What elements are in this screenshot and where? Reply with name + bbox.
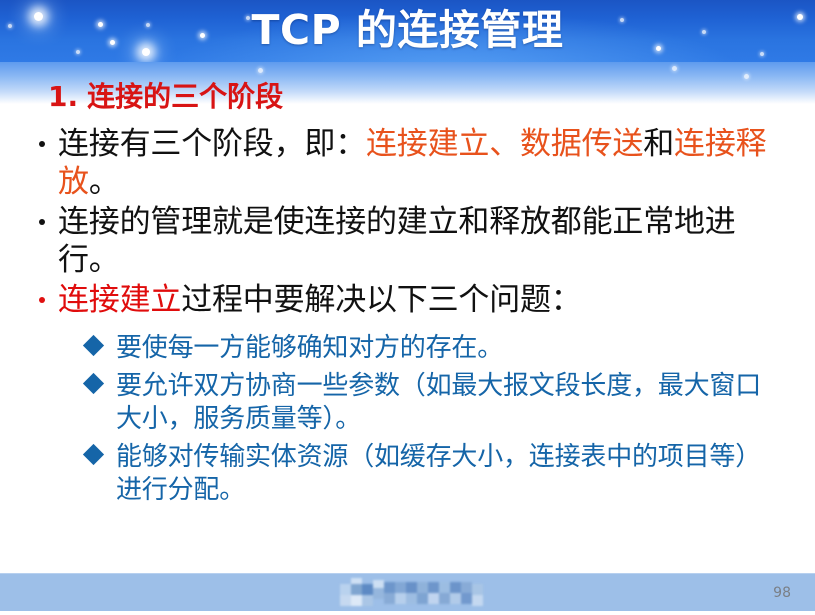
page-number: 98	[773, 584, 791, 602]
section-heading: 1.连接的三个阶段	[48, 80, 283, 114]
bullet-run: 连接的管理就是使连接的建立和释放都能正常地进行。	[58, 204, 736, 278]
sub-bullet-item: 要使每一方能够确知对方的存在。	[86, 332, 786, 365]
bullet-run: 连接有三个阶段，即：	[58, 126, 366, 162]
bullet-dot-icon	[39, 297, 45, 303]
bullet-run: 过程中要解决以下三个问题：	[181, 282, 581, 318]
slide-body: 1.连接的三个阶段 连接有三个阶段，即：连接建立、数据传送和连接释放。 连接的管…	[0, 76, 815, 566]
sub-bullet-list: 要使每一方能够确知对方的存在。 要允许双方协商一些参数（如最大报文段长度，最大窗…	[86, 332, 786, 512]
sub-bullet-text: 能够对传输实体资源（如缓存大小，连接表中的项目等）进行分配。	[116, 442, 761, 505]
bullet-run: 和	[643, 126, 674, 162]
sub-bullet-text: 要允许双方协商一些参数（如最大报文段长度，最大窗口大小，服务质量等）。	[116, 371, 761, 434]
diamond-bullet-icon	[83, 373, 104, 394]
bullet-dot-icon	[39, 141, 45, 147]
sub-bullet-item: 能够对传输实体资源（如缓存大小，连接表中的项目等）进行分配。	[86, 441, 786, 507]
diamond-bullet-icon	[83, 444, 104, 465]
diamond-bullet-icon	[83, 335, 104, 356]
bullet-dot-icon	[39, 219, 45, 225]
bullet-run-emphasis: 连接建立	[58, 282, 181, 318]
section-heading-text: 连接的三个阶段	[87, 80, 283, 113]
bullet-run: 。	[89, 164, 120, 200]
slide-title: TCP 的连接管理	[0, 2, 815, 58]
presentation-slide: TCP 的连接管理 1.连接的三个阶段 连接有三个阶段，即：连接建立、数据传送和…	[0, 0, 815, 615]
star-decoration	[258, 68, 263, 73]
redacted-watermark	[340, 578, 488, 606]
bullet-item: 连接建立过程中要解决以下三个问题：	[36, 281, 786, 319]
bullet-run-emphasis: 连接建立、数据传送	[366, 126, 643, 162]
bullet-item: 连接有三个阶段，即：连接建立、数据传送和连接释放。	[36, 125, 786, 201]
sub-bullet-item: 要允许双方协商一些参数（如最大报文段长度，最大窗口大小，服务质量等）。	[86, 370, 786, 436]
bullet-item: 连接的管理就是使连接的建立和释放都能正常地进行。	[36, 203, 786, 279]
star-decoration	[672, 66, 677, 71]
section-heading-number: 1.	[48, 80, 78, 113]
sub-bullet-text: 要使每一方能够确知对方的存在。	[116, 333, 503, 363]
bullet-list: 连接有三个阶段，即：连接建立、数据传送和连接释放。 连接的管理就是使连接的建立和…	[36, 125, 786, 321]
footer-white-strip	[0, 611, 815, 615]
